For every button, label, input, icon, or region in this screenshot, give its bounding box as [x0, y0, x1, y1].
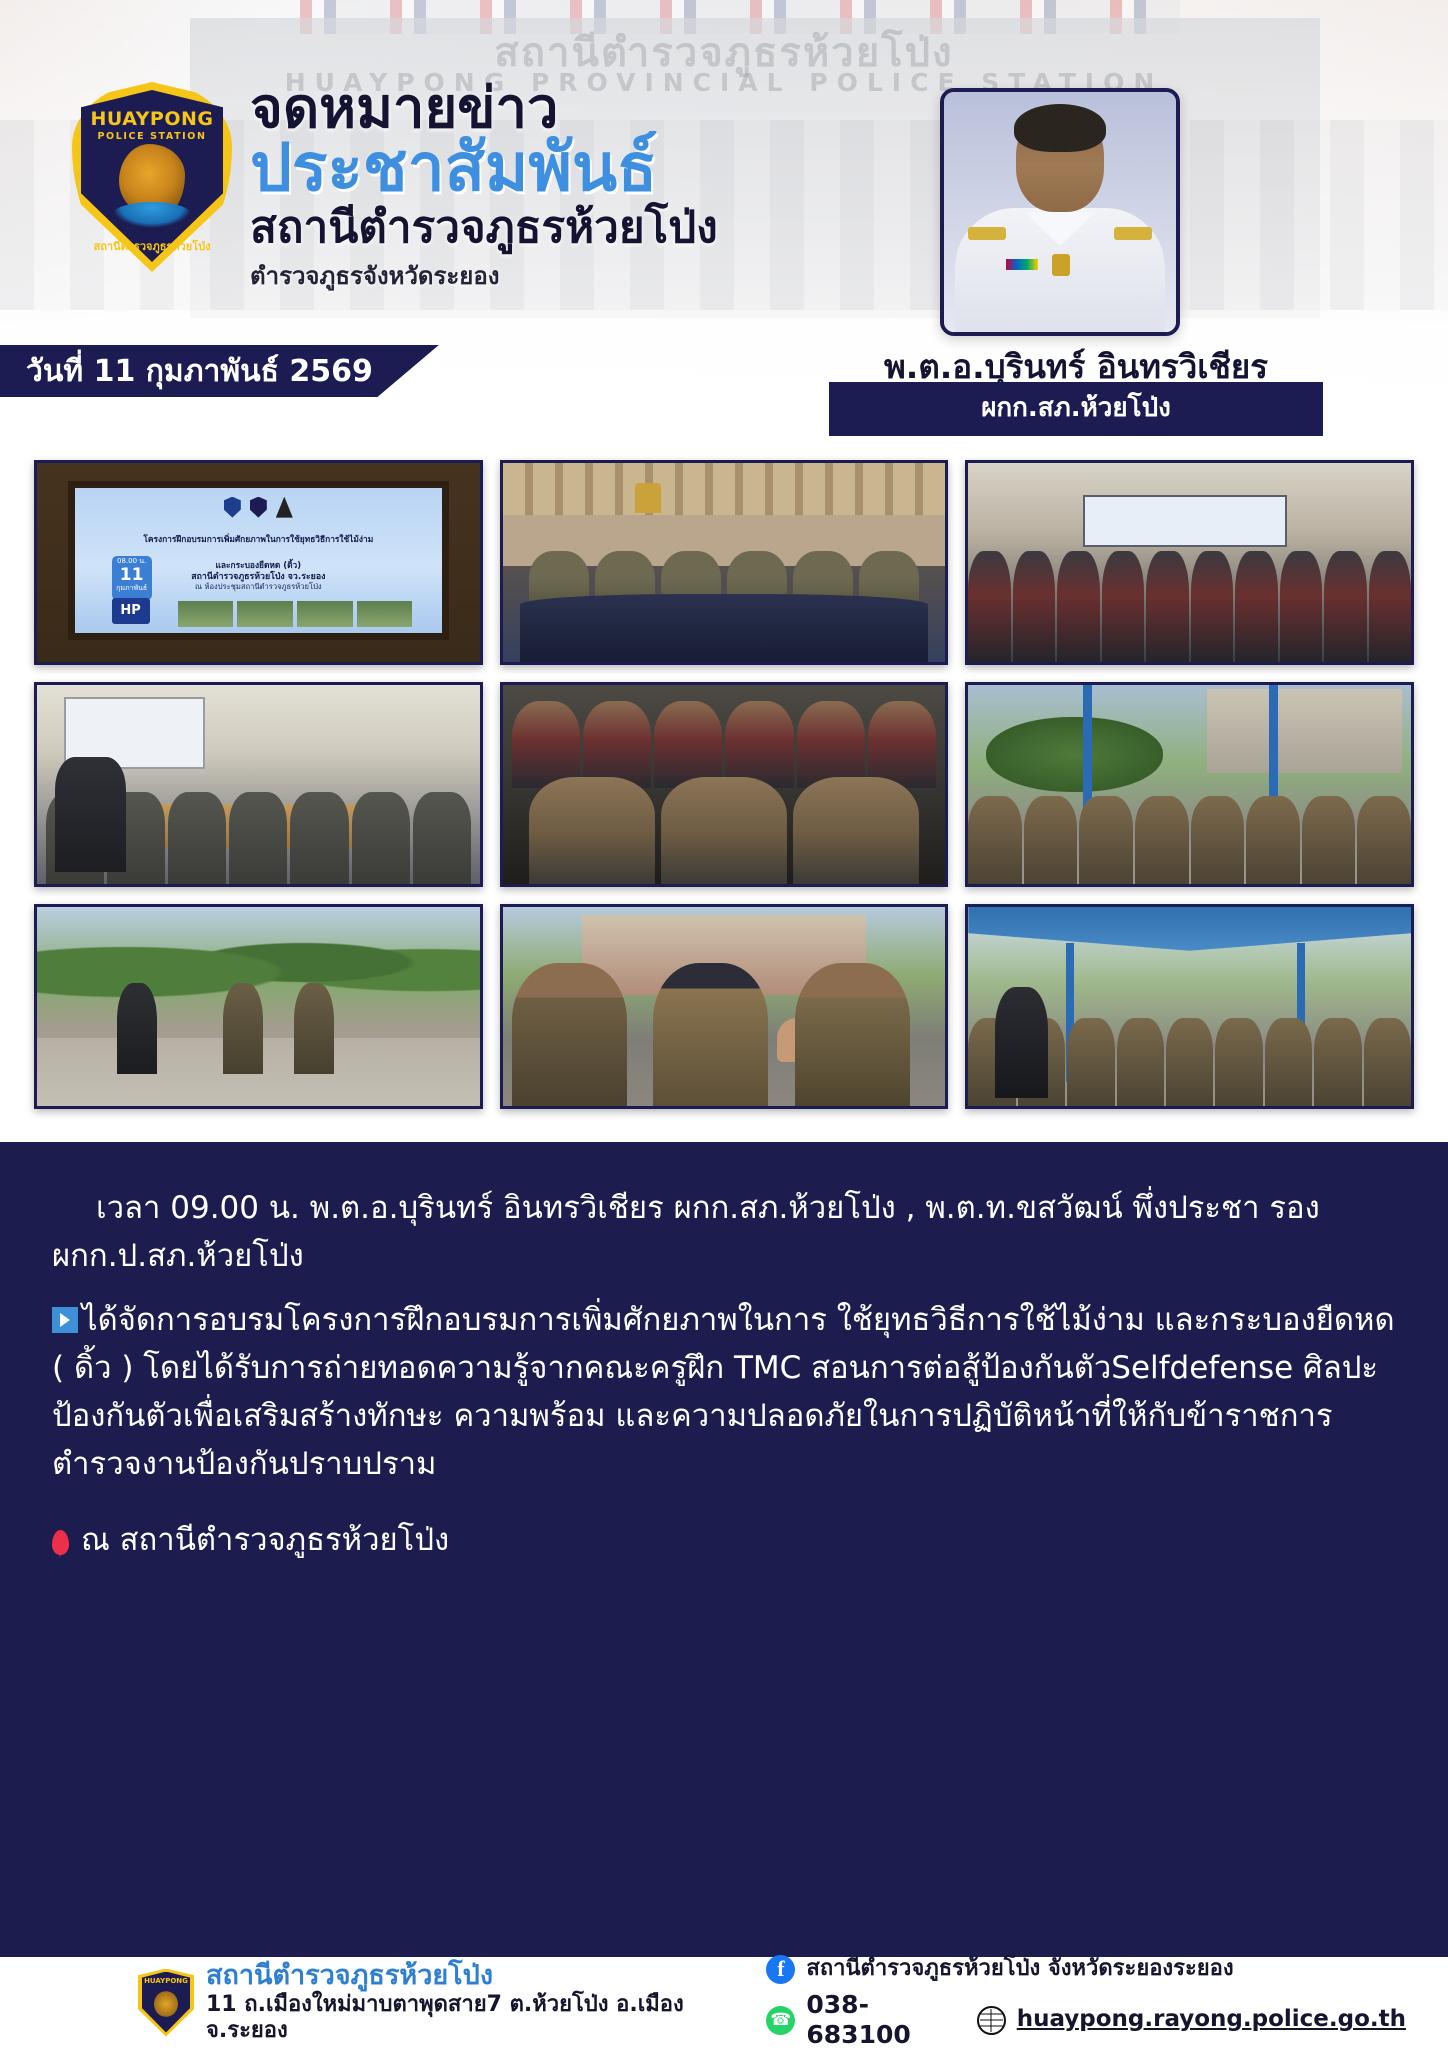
building-decor [1207, 689, 1402, 773]
map-pin-icon [52, 1530, 69, 1555]
footer-bar: HUAYPONG สถานีตำรวจภูธรห้วยโป่ง 11 ถ.เมื… [0, 1952, 1448, 2048]
location-line: ณ สถานีตำรวจภูธรห้วยโป่ง [52, 1514, 1396, 1564]
back-row-figures [512, 701, 937, 789]
paragraph-details: ได้จัดการอบรมโครงการฝึกอบรมการเพิ่มศักยภ… [52, 1302, 1395, 1482]
play-triangle-icon [52, 1307, 78, 1333]
officers-crowd [968, 796, 1411, 884]
sparring-figure [117, 983, 157, 1075]
photo-item[interactable]: โครงการฝึกอบรมการเพิ่มศักยภาพในการใช้ยุท… [34, 460, 483, 665]
sparring-figure [294, 983, 334, 1075]
badge-bottom-text: สถานีตำรวจภูธรห้วยโป่ง [72, 237, 232, 255]
police-emblem-icon [224, 497, 241, 518]
lead-instructor-figure [995, 987, 1048, 1098]
officer-portrait [940, 88, 1180, 336]
globe-icon[interactable] [977, 2006, 1006, 2035]
wave-icon [112, 202, 192, 228]
canopy-roof [968, 907, 1411, 951]
paragraph-details-wrapper: ได้จัดการอบรมโครงการฝึกอบรมการเพิ่มศักยภ… [52, 1296, 1396, 1488]
slide-time: 08.00 น. [117, 557, 146, 565]
footer-badge-text: HUAYPONG [138, 1977, 194, 1985]
photo-item[interactable]: การสาธิตการใช้กุญแจมือ [500, 682, 949, 887]
slide-day: 11 [112, 566, 152, 585]
portrait-ribbon-bar [1006, 259, 1038, 270]
shrine-decor [635, 483, 661, 513]
tmc-logo-icon [276, 497, 293, 518]
portrait-rank-badge [1052, 254, 1070, 276]
footer-website[interactable]: huaypong.rayong.police.go.th [1017, 2006, 1406, 2034]
group-photo-row [968, 551, 1411, 662]
phone-icon[interactable] [766, 2006, 795, 2035]
station-title: สถานีตำรวจภูธรห้วยโป่ง [250, 204, 718, 252]
photo-item[interactable]: ภาพหมู่ผู้เข้ารับการฝึกอบรมในห้องประชุม [965, 460, 1414, 665]
sparring-figure [223, 983, 263, 1075]
footer-address-group: สถานีตำรวจภูธรห้วยโป่ง 11 ถ.เมืองใหม่มาบ… [206, 1961, 766, 2043]
photo-item[interactable]: เจ้าหน้าที่ตำรวจเข้าร่วมการฝึก [500, 904, 949, 1109]
photo-item[interactable]: แถวผู้เข้ารับการฝึกใต้หลังคาโดม [965, 904, 1414, 1109]
public-relations-title: ประชาสัมพันธ์ [250, 133, 718, 202]
portrait-epaulet-right [1114, 227, 1152, 240]
photo-gallery: โครงการฝึกอบรมการเพิ่มศักยภาพในการใช้ยุท… [0, 460, 1448, 1142]
curtain-decor [503, 463, 946, 515]
officer-figure [653, 963, 768, 1106]
presentation-screen: โครงการฝึกอบรมการเพิ่มศักยภาพในการใช้ยุท… [68, 481, 449, 640]
slide-hp-logo: HP [112, 598, 150, 624]
police-badge-logo: HUAYPONG POLICE STATION สถานีตำรวจภูธรห้… [72, 82, 232, 272]
article-body: เวลา 09.00 น. พ.ต.อ.บุรินทร์ อินทรวิเชีย… [0, 1142, 1448, 1952]
footer-contacts: สถานีตำรวจภูธรห้วยโป่ง จังหวัดระยองระยอง… [766, 1955, 1406, 2050]
slide-logos [75, 497, 442, 518]
location-text: ณ สถานีตำรวจภูธรห้วยโป่ง [81, 1522, 449, 1558]
badge-sub-text: POLICE STATION [72, 131, 232, 142]
officer-figure [795, 963, 910, 1106]
header-banner: สถานีตำรวจภูธรห้วยโป่ง HUAYPONG PROVINCI… [0, 0, 1448, 460]
portrait-epaulet-left [968, 227, 1006, 240]
slide-thumbnails [178, 601, 413, 627]
footer-dragon-icon [154, 1991, 178, 2017]
footer-phone: 038-683100 [806, 1990, 965, 2050]
photo-item[interactable]: การประชุมชี้แจงที่โต๊ะประชุม [500, 460, 949, 665]
badge-top-text: HUAYPONG [72, 108, 232, 130]
officer-figure [512, 963, 627, 1106]
front-row-figures [529, 777, 919, 884]
facebook-icon[interactable] [766, 1955, 795, 1984]
footer-facebook-row[interactable]: สถานีตำรวจภูธรห้วยโป่ง จังหวัดระยองระยอง [766, 1955, 1406, 1984]
huaypong-emblem-icon [250, 497, 267, 518]
footer-address: 11 ถ.เมืองใหม่มาบตาพุดสาย7 ต.ห้วยโป่ง อ.… [206, 1992, 766, 2044]
photo-item[interactable]: การฝึกภาคสนามบริเวณลานหน้าสถานี [965, 682, 1414, 887]
header-title-group: จดหมายข่าว ประชาสัมพันธ์ สถานีตำรวจภูธรห… [250, 80, 718, 295]
slide-title-line1: โครงการฝึกอบรมการเพิ่มศักยภาพในการใช้ยุท… [90, 534, 427, 545]
date-badge: วันที่ 11 กุมภาพันธ์ 2569 [0, 345, 439, 397]
footer-badge-logo: HUAYPONG [138, 1969, 194, 2037]
tree-decor [986, 717, 1163, 793]
paragraph-intro: เวลา 09.00 น. พ.ต.อ.บุรินทร์ อินทรวิเชีย… [52, 1184, 1396, 1280]
conference-table [520, 594, 927, 662]
footer-facebook-name: สถานีตำรวจภูธรห้วยโป่ง จังหวัดระยองระยอง [806, 1956, 1233, 1982]
photo-item[interactable]: การบรรยายให้ความรู้ในห้องประชุม [34, 682, 483, 887]
portrait-hair [1014, 104, 1106, 152]
footer-phone-web-row[interactable]: 038-683100 huaypong.rayong.police.go.th [766, 1990, 1406, 2050]
projection-screen [1083, 495, 1287, 547]
slide-month: กุมภาพันธ์ [116, 584, 147, 592]
officer-role-badge: ผกก.สภ.ห้วยโป่ง [829, 382, 1323, 436]
slide-date-chip: 08.00 น. 11 กุมภาพันธ์ [112, 556, 152, 600]
instructor-figure [55, 757, 126, 872]
footer-station-name: สถานีตำรวจภูธรห้วยโป่ง [206, 1961, 766, 1991]
photo-item[interactable]: การฝึกต่อสู้ป้องกันตัวกลางแจ้ง [34, 904, 483, 1109]
province-subtitle: ตำรวจภูธรจังหวัดระยอง [250, 256, 718, 295]
